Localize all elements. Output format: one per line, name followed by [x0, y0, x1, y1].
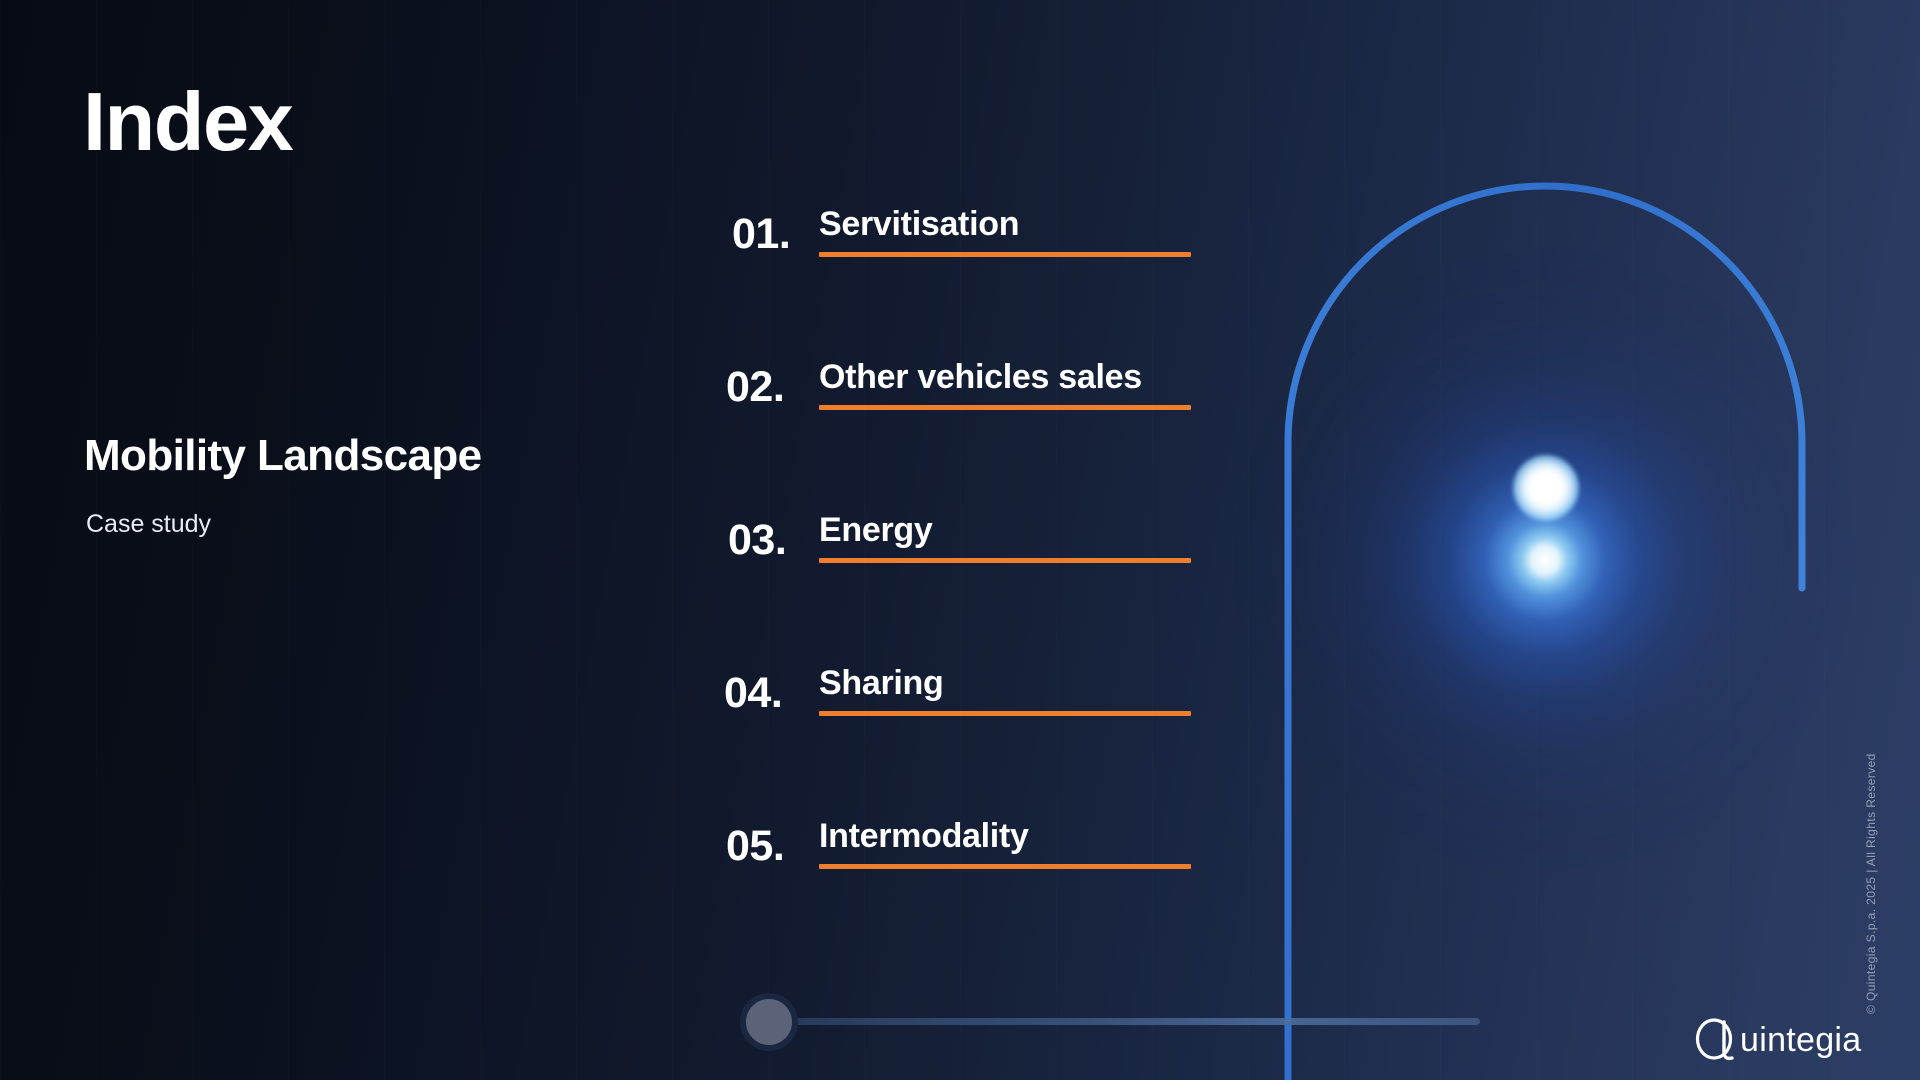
blue-arch-path — [1288, 186, 1802, 1080]
index-item-number: 04. — [724, 669, 816, 718]
index-item-underline — [819, 864, 1191, 869]
presentation-slide: Index Mobility Landscape Case study 01. … — [0, 0, 1920, 1080]
brand-logo: uintegia — [1694, 1016, 1862, 1064]
index-list: 01. Servitisation 02. Other vehicles sal… — [718, 200, 1278, 965]
index-item-number: 01. — [732, 210, 824, 259]
index-item-number: 03. — [728, 516, 820, 565]
index-item-label: Servitisation — [819, 205, 1019, 243]
light-glow-halo — [1235, 250, 1855, 870]
deck-title: Mobility Landscape — [84, 432, 482, 480]
index-item-label-wrap: Intermodality — [819, 812, 1239, 869]
index-item-label: Other vehicles sales — [819, 358, 1142, 396]
index-item-2[interactable]: 02. Other vehicles sales — [718, 353, 1278, 506]
index-item-4[interactable]: 04. Sharing — [718, 659, 1278, 812]
index-item-number: 05. — [726, 822, 818, 871]
index-item-number: 02. — [726, 363, 818, 412]
progress-slider-track[interactable] — [768, 1018, 1480, 1025]
quintegia-q-icon — [1694, 1016, 1746, 1064]
index-item-label-wrap: Other vehicles sales — [819, 353, 1239, 410]
index-item-label-wrap: Energy — [819, 506, 1239, 563]
brand-wordmark: uintegia — [1740, 1023, 1862, 1057]
index-item-label: Energy — [819, 511, 932, 549]
index-item-label-wrap: Sharing — [819, 659, 1239, 716]
index-item-underline — [819, 711, 1191, 716]
deck-subtitle: Case study — [86, 509, 211, 539]
index-item-underline — [819, 252, 1191, 257]
index-item-label-wrap: Servitisation — [819, 200, 1239, 257]
index-item-3[interactable]: 03. Energy — [718, 506, 1278, 659]
index-item-5[interactable]: 05. Intermodality — [718, 812, 1278, 965]
index-item-label: Intermodality — [819, 817, 1029, 855]
index-item-underline — [819, 558, 1191, 563]
progress-slider-handle[interactable] — [740, 993, 798, 1051]
copyright-notice: © Quintegia S.p.a. 2025 | All Rights Res… — [1864, 753, 1878, 1014]
page-title: Index — [83, 80, 292, 163]
index-item-1[interactable]: 01. Servitisation — [718, 200, 1278, 353]
light-glow-core — [1513, 455, 1579, 521]
index-item-label: Sharing — [819, 664, 943, 702]
index-item-underline — [819, 405, 1191, 410]
